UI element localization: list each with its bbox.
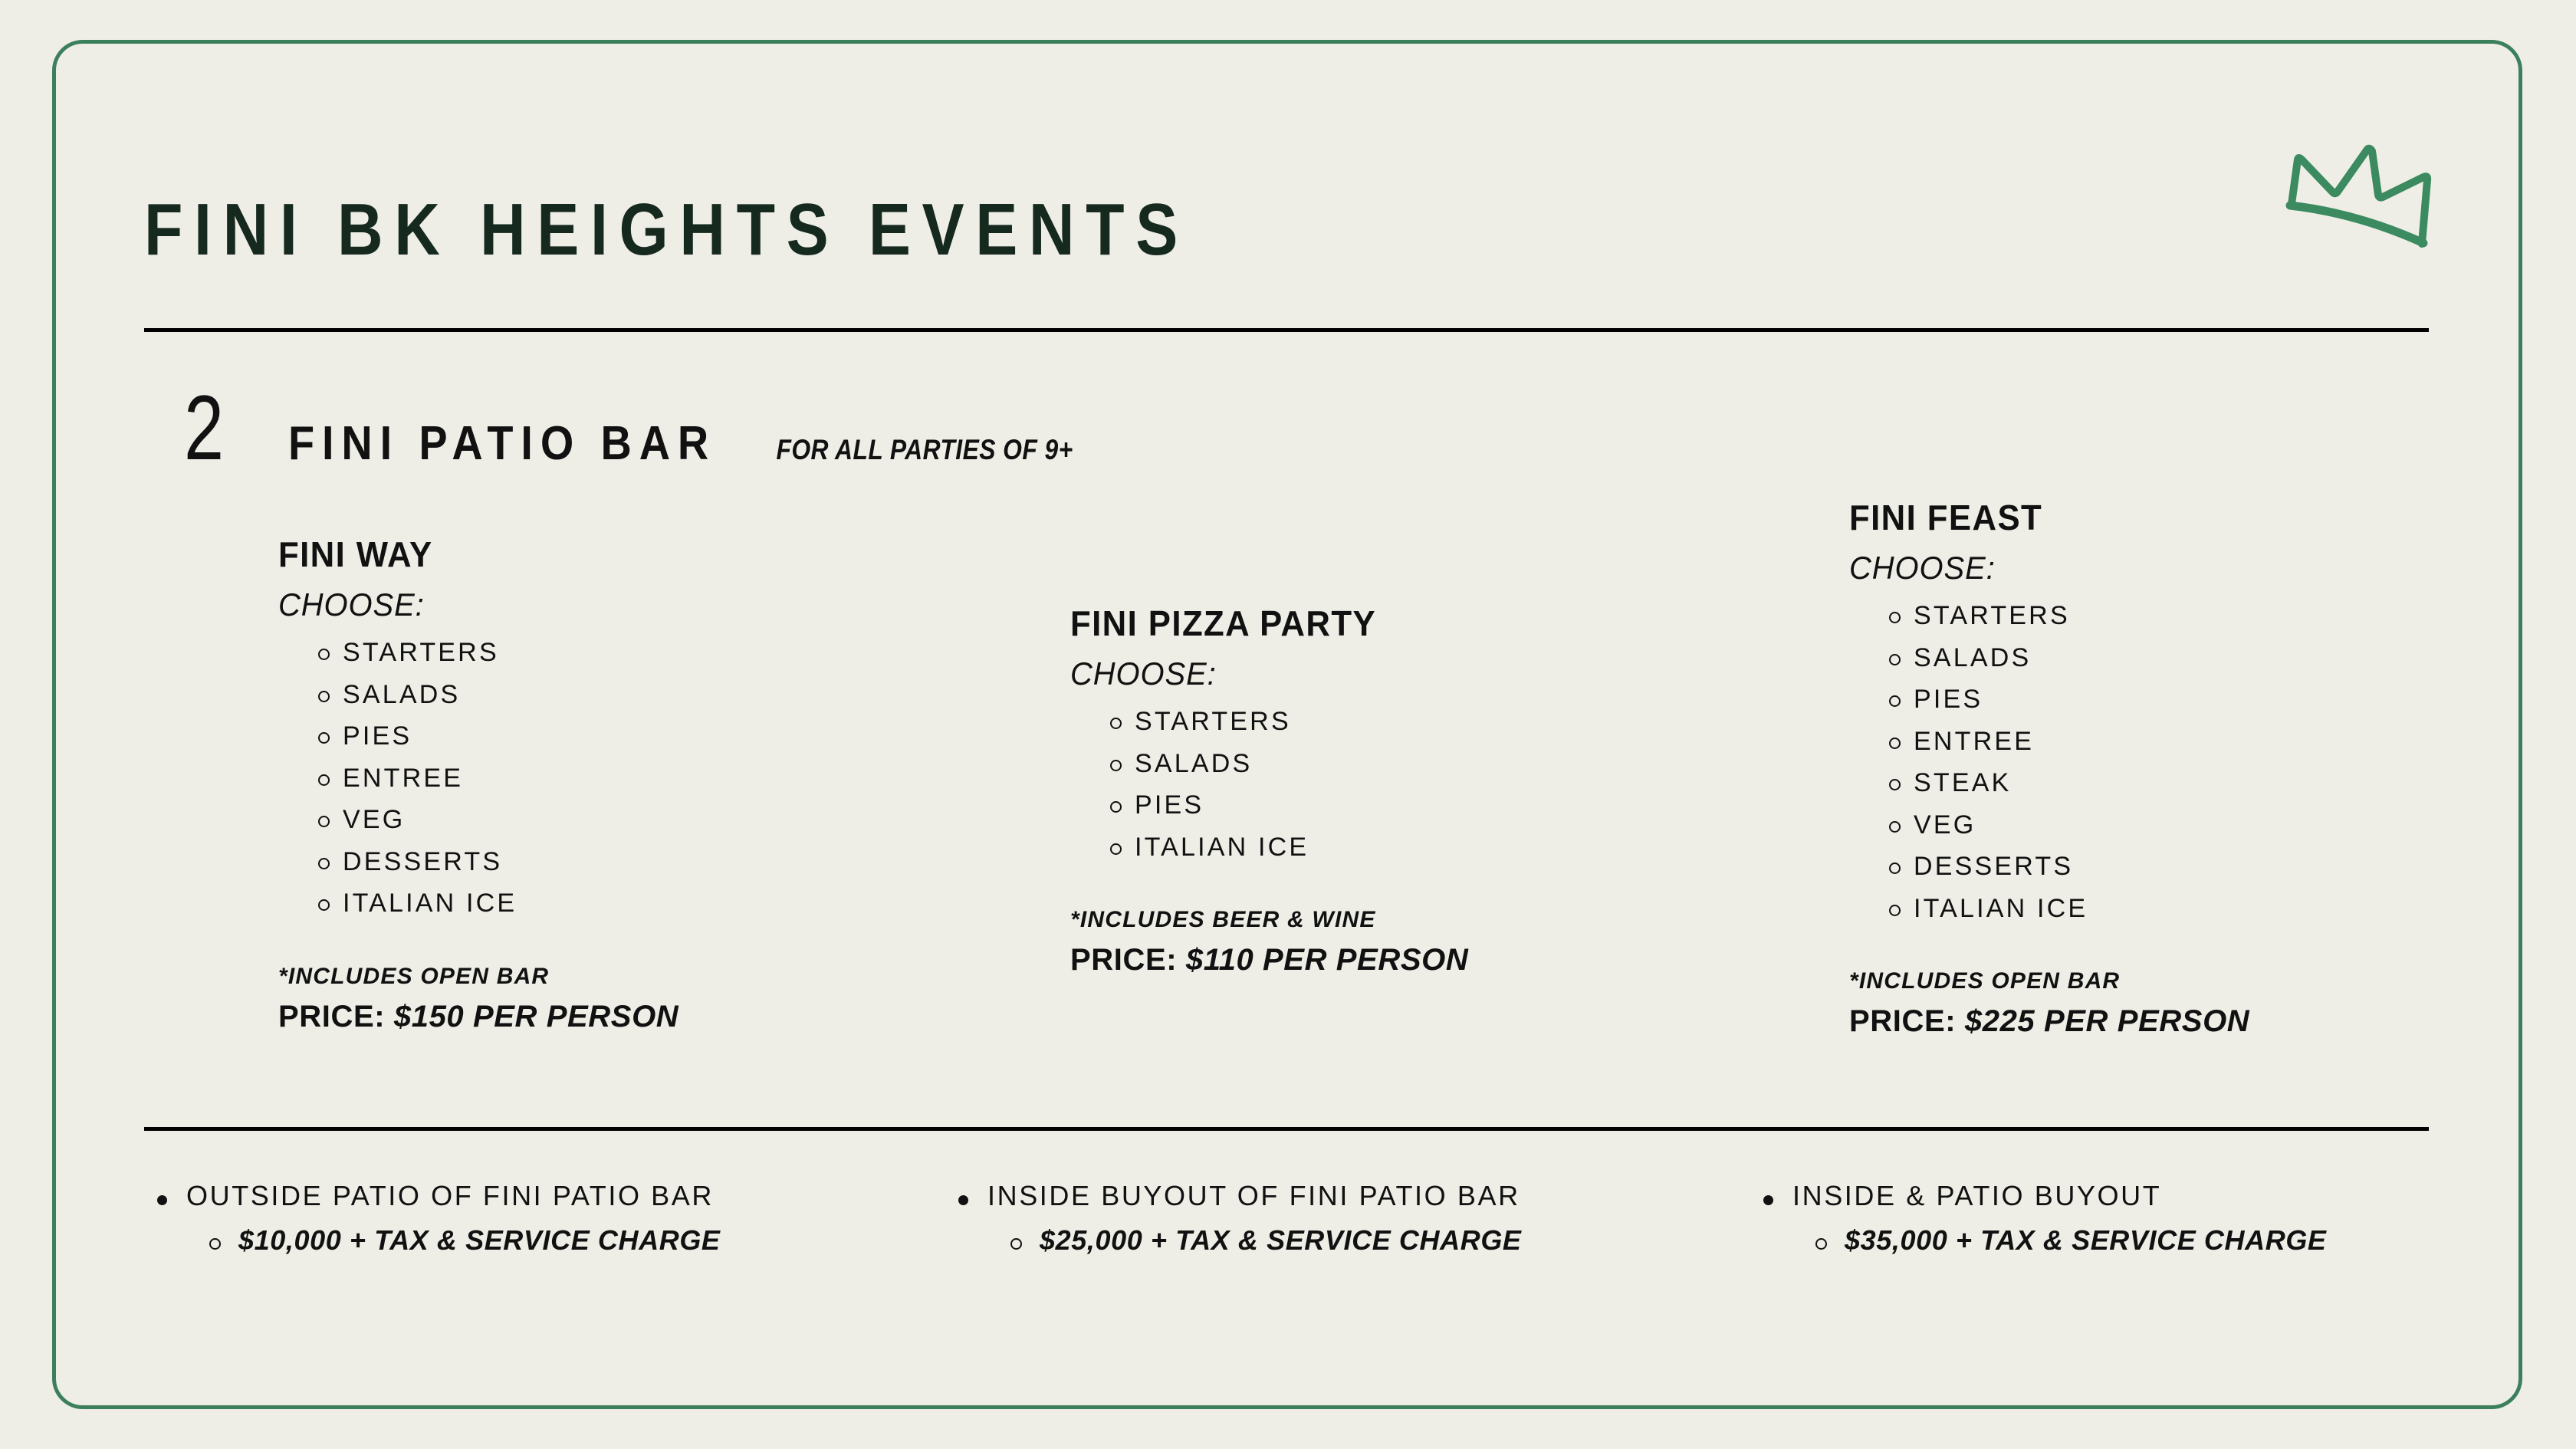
package-price-value: $225 PER PERSON: [1965, 1004, 2249, 1038]
list-item: ITALIAN ICE: [1914, 888, 2249, 930]
list-item: VEG: [343, 799, 678, 841]
list-item: STARTERS: [343, 632, 678, 674]
events-menu-page: FINI BK HEIGHTS EVENTS 2 FINI PATIO BAR …: [0, 0, 2576, 1449]
bullet-icon: [1763, 1195, 1773, 1205]
bullet-icon: [1889, 738, 1901, 749]
bullet-icon: [1110, 760, 1122, 771]
list-item: ENTREE: [1914, 721, 2249, 763]
section-header: 2 FINI PATIO BAR FOR ALL PARTIES OF 9+: [184, 382, 1097, 474]
package-item-list: STARTERS SALADS PIES ITALIAN ICE: [1070, 701, 1468, 868]
list-item: PIES: [1914, 678, 2249, 721]
bullet-icon: [1889, 779, 1901, 790]
package-price-value: $150 PER PERSON: [394, 1000, 678, 1033]
list-item-label: STARTERS: [1914, 601, 2070, 630]
package-includes-note: *INCLUDES OPEN BAR: [278, 963, 678, 991]
list-item-label: SALADS: [343, 680, 460, 709]
list-item: STEAK: [1914, 762, 2249, 804]
buyout-amount: $10,000 + TAX & SERVICE CHARGE: [209, 1225, 721, 1256]
list-item: VEG: [1914, 804, 2249, 846]
list-item-label: DESSERTS: [1914, 852, 2073, 881]
list-item-label: PIES: [343, 721, 412, 751]
bullet-icon: [209, 1238, 221, 1250]
package-item-list: STARTERS SALADS PIES ENTREE STEAK VEG DE…: [1849, 595, 2249, 929]
crown-icon: [2281, 136, 2449, 251]
list-item-label: PIES: [1135, 790, 1204, 820]
list-item: ITALIAN ICE: [1135, 826, 1468, 869]
list-item: ITALIAN ICE: [343, 882, 678, 925]
bullet-icon: [318, 858, 330, 869]
bullet-icon: [157, 1195, 167, 1205]
package-name: FINI PIZZA PARTY: [1070, 606, 1448, 641]
bullet-icon: [318, 816, 330, 827]
list-item-label: PIES: [1914, 685, 1983, 714]
bullet-icon: [318, 732, 330, 744]
bullet-icon: [1889, 905, 1901, 916]
bullet-icon: [318, 691, 330, 702]
bullet-icon: [318, 649, 330, 660]
section-number: 2: [184, 382, 224, 474]
bullet-icon: [1889, 612, 1901, 623]
package-price: PRICE: $150 PER PERSON: [278, 998, 678, 1035]
footer-divider: [144, 1127, 2429, 1131]
bullet-icon: [1889, 695, 1901, 707]
list-item-label: SALADS: [1135, 749, 1252, 778]
package-price: PRICE: $110 PER PERSON: [1070, 941, 1468, 978]
package-choose-label: CHOOSE:: [1070, 658, 1448, 690]
list-item: DESSERTS: [343, 841, 678, 883]
package-price-value: $110 PER PERSON: [1186, 943, 1468, 977]
list-item-label: DESSERTS: [343, 847, 502, 876]
package-price-label: PRICE:: [1849, 1004, 1956, 1038]
list-item: SALADS: [1914, 637, 2249, 679]
buyout-amount: $25,000 + TAX & SERVICE CHARGE: [1010, 1225, 1522, 1256]
bullet-icon: [1110, 801, 1122, 813]
package-item-list: STARTERS SALADS PIES ENTREE VEG DESSERTS…: [278, 632, 678, 925]
bullet-icon: [1889, 863, 1901, 874]
package-name: FINI WAY: [278, 537, 659, 572]
list-item: STARTERS: [1135, 701, 1468, 743]
list-item-label: ENTREE: [1914, 727, 2034, 756]
buyout-amount-label: $35,000 + TAX & SERVICE CHARGE: [1845, 1224, 2327, 1256]
list-item-label: STARTERS: [1135, 707, 1291, 736]
bullet-icon: [958, 1195, 968, 1205]
package-price-label: PRICE:: [1070, 943, 1177, 977]
package-price-label: PRICE:: [278, 1000, 385, 1033]
list-item: SALADS: [1135, 743, 1468, 785]
list-item-label: ITALIAN ICE: [1135, 833, 1309, 862]
package-includes-note: *INCLUDES OPEN BAR: [1849, 968, 2249, 995]
section-title: FINI PATIO BAR: [288, 416, 716, 471]
list-item-label: SALADS: [1914, 643, 2031, 672]
package-name: FINI FEAST: [1849, 500, 2229, 535]
list-item: ENTREE: [343, 757, 678, 800]
list-item-label: ITALIAN ICE: [343, 889, 517, 918]
list-item-label: ENTREE: [343, 764, 463, 793]
bullet-icon: [1889, 821, 1901, 833]
buyout-title: INSIDE BUYOUT OF FINI PATIO BAR: [958, 1181, 1522, 1211]
package-card-fini-pizza-party: FINI PIZZA PARTY CHOOSE: STARTERS SALADS…: [1070, 606, 1468, 978]
bullet-icon: [318, 774, 330, 786]
list-item-label: VEG: [343, 805, 405, 834]
package-choose-label: CHOOSE:: [1849, 552, 2229, 584]
buyout-amount-label: $10,000 + TAX & SERVICE CHARGE: [238, 1224, 721, 1256]
buyout-amount: $35,000 + TAX & SERVICE CHARGE: [1815, 1225, 2327, 1256]
package-card-fini-feast: FINI FEAST CHOOSE: STARTERS SALADS PIES …: [1849, 500, 2249, 1040]
bullet-icon: [1110, 843, 1122, 855]
list-item: PIES: [1135, 784, 1468, 826]
list-item-label: ITALIAN ICE: [1914, 894, 2088, 923]
package-choose-label: CHOOSE:: [278, 589, 659, 621]
list-item: SALADS: [343, 674, 678, 716]
buyout-option-outside-patio: OUTSIDE PATIO OF FINI PATIO BAR $10,000 …: [157, 1181, 721, 1255]
bullet-icon: [318, 899, 330, 911]
bullet-icon: [1815, 1238, 1827, 1250]
header-divider: [144, 328, 2429, 332]
buyout-title: INSIDE & PATIO BUYOUT: [1763, 1181, 2327, 1211]
buyout-amount-label: $25,000 + TAX & SERVICE CHARGE: [1040, 1224, 1522, 1256]
page-title: FINI BK HEIGHTS EVENTS: [144, 193, 1189, 267]
package-card-fini-way: FINI WAY CHOOSE: STARTERS SALADS PIES EN…: [278, 537, 678, 1035]
list-item-label: VEG: [1914, 810, 1976, 839]
bullet-icon: [1010, 1238, 1022, 1250]
buyout-option-inside-buyout: INSIDE BUYOUT OF FINI PATIO BAR $25,000 …: [958, 1181, 1522, 1255]
bullet-icon: [1889, 654, 1901, 665]
buyout-title: OUTSIDE PATIO OF FINI PATIO BAR: [157, 1181, 721, 1211]
buyout-title-label: INSIDE BUYOUT OF FINI PATIO BAR: [987, 1180, 1520, 1211]
list-item-label: STARTERS: [343, 638, 499, 667]
buyout-option-inside-and-patio: INSIDE & PATIO BUYOUT $35,000 + TAX & SE…: [1763, 1181, 2327, 1255]
package-includes-note: *INCLUDES BEER & WINE: [1070, 906, 1468, 934]
section-note: FOR ALL PARTIES OF 9+: [776, 434, 1073, 466]
bullet-icon: [1110, 718, 1122, 729]
list-item: DESSERTS: [1914, 846, 2249, 888]
list-item-label: STEAK: [1914, 768, 2011, 797]
list-item: PIES: [343, 715, 678, 757]
list-item: STARTERS: [1914, 595, 2249, 637]
buyout-title-label: OUTSIDE PATIO OF FINI PATIO BAR: [186, 1180, 714, 1211]
package-price: PRICE: $225 PER PERSON: [1849, 1003, 2249, 1040]
buyout-title-label: INSIDE & PATIO BUYOUT: [1792, 1180, 2161, 1211]
